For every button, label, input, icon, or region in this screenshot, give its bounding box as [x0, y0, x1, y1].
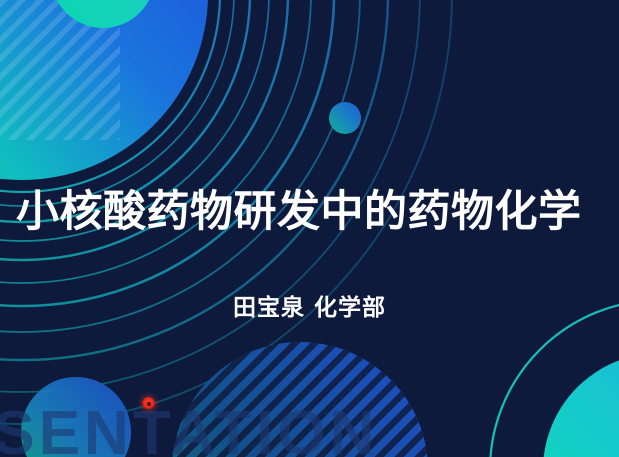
mid-gradient-dot	[329, 102, 361, 134]
slide-subtitle: 田宝泉 化学部	[0, 288, 619, 322]
red-click-marker	[142, 397, 155, 410]
presentation-slide: ESENTATION 小核酸药物研发中的药物化学 田宝泉 化学部	[0, 0, 619, 457]
watermark-text: ESENTATION	[0, 403, 378, 457]
slide-title: 小核酸药物研发中的药物化学	[16, 188, 606, 236]
